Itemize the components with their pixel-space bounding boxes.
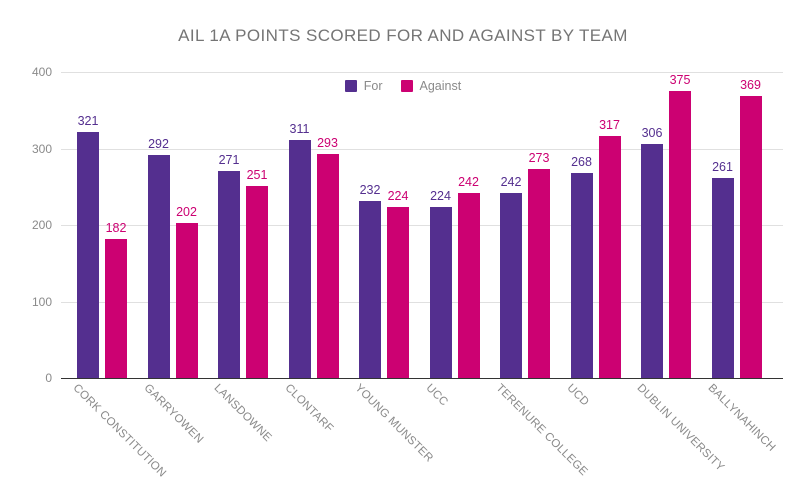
y-axis-tick-label: 200 — [32, 218, 52, 232]
bar-group: 292202 — [148, 72, 198, 378]
bar-value-label: 273 — [529, 151, 550, 165]
y-axis-tick-label: 0 — [45, 371, 52, 385]
bar-group: 271251 — [218, 72, 268, 378]
bar-group: 261369 — [712, 72, 762, 378]
bar-value-label: 251 — [247, 168, 268, 182]
bar-for[interactable]: 268 — [571, 173, 593, 378]
bar-for[interactable]: 232 — [359, 201, 381, 378]
bar-value-label: 268 — [571, 155, 592, 169]
bar-value-label: 306 — [642, 126, 663, 140]
x-axis-label: GARRYOWEN — [141, 382, 205, 446]
bar-chart: AIL 1A POINTS SCORED FOR AND AGAINST BY … — [0, 0, 806, 498]
bar-group: 306375 — [641, 72, 691, 378]
bar-against[interactable]: 293 — [317, 154, 339, 378]
x-axis-label: YOUNG MUNSTER — [353, 382, 436, 465]
bar-value-label: 261 — [712, 160, 733, 174]
bar-against[interactable]: 224 — [387, 207, 409, 378]
bar-for[interactable]: 242 — [500, 193, 522, 378]
y-axis-tick-label: 100 — [32, 295, 52, 309]
x-axis-labels: CORK CONSTITUTIONGARRYOWENLANSDOWNECLONT… — [61, 382, 783, 498]
bar-against[interactable]: 251 — [246, 186, 268, 378]
bar-for[interactable]: 261 — [712, 178, 734, 378]
bar-value-label: 182 — [106, 221, 127, 235]
bar-against[interactable]: 182 — [105, 239, 127, 378]
plot-area: 0100200300400321182292202271251311293232… — [61, 72, 783, 378]
bar-group: 232224 — [359, 72, 409, 378]
x-axis-label: BALLYNAHINCH — [705, 382, 777, 454]
x-axis-label: UCD — [564, 382, 591, 409]
bar-group: 321182 — [77, 72, 127, 378]
bar-value-label: 317 — [599, 118, 620, 132]
bar-value-label: 321 — [78, 114, 99, 128]
bar-against[interactable]: 369 — [740, 96, 762, 378]
x-axis-label: UCC — [423, 382, 450, 409]
bar-group: 224242 — [430, 72, 480, 378]
bar-value-label: 224 — [388, 189, 409, 203]
x-axis-label: LANSDOWNE — [212, 382, 274, 444]
bar-against[interactable]: 317 — [599, 136, 621, 379]
bar-value-label: 242 — [501, 175, 522, 189]
bar-value-label: 224 — [430, 189, 451, 203]
bar-group: 311293 — [289, 72, 339, 378]
bar-for[interactable]: 306 — [641, 144, 663, 378]
bar-value-label: 293 — [317, 136, 338, 150]
bar-against[interactable]: 202 — [176, 223, 198, 378]
chart-title: AIL 1A POINTS SCORED FOR AND AGAINST BY … — [0, 26, 806, 46]
bar-for[interactable]: 292 — [148, 155, 170, 378]
bar-value-label: 375 — [670, 73, 691, 87]
x-axis-label: CLONTARF — [282, 382, 335, 435]
bar-group: 242273 — [500, 72, 550, 378]
bar-value-label: 232 — [360, 183, 381, 197]
bar-group: 268317 — [571, 72, 621, 378]
bar-against[interactable]: 273 — [528, 169, 550, 378]
bar-value-label: 311 — [290, 122, 310, 136]
bar-for[interactable]: 224 — [430, 207, 452, 378]
bar-value-label: 271 — [219, 153, 240, 167]
bar-value-label: 369 — [740, 78, 761, 92]
bar-for[interactable]: 311 — [289, 140, 311, 378]
bar-value-label: 202 — [176, 205, 197, 219]
bar-value-label: 292 — [148, 137, 169, 151]
bar-against[interactable]: 375 — [669, 91, 691, 378]
y-axis-tick-label: 300 — [32, 142, 52, 156]
bar-for[interactable]: 271 — [218, 171, 240, 378]
y-axis-tick-label: 400 — [32, 65, 52, 79]
bar-value-label: 242 — [458, 175, 479, 189]
bar-against[interactable]: 242 — [458, 193, 480, 378]
bar-for[interactable]: 321 — [77, 132, 99, 378]
